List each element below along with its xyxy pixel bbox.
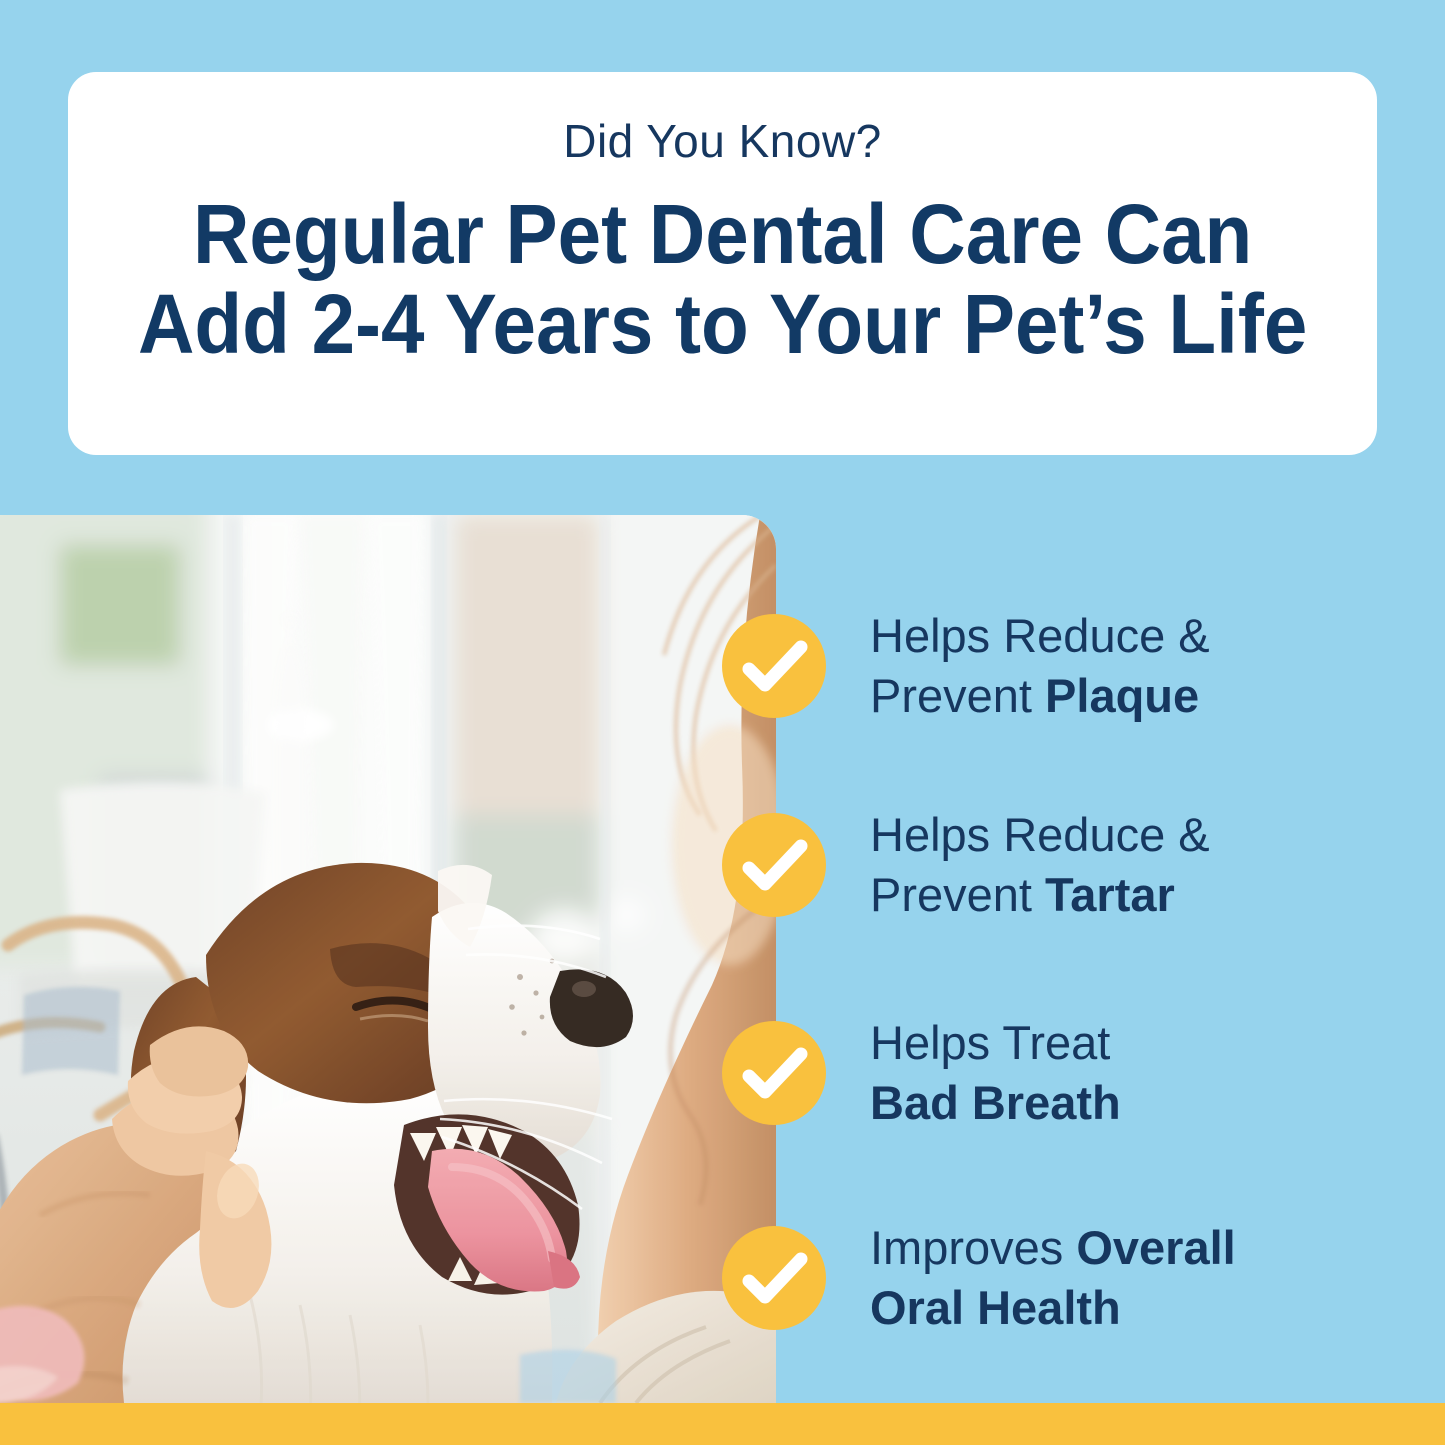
benefit-item-plaque: Helps Reduce & Prevent Plaque bbox=[722, 606, 1210, 726]
benefit-line-bold: Bad Breath bbox=[870, 1076, 1121, 1129]
headline-card: Did You Know? Regular Pet Dental Care Ca… bbox=[68, 72, 1377, 455]
check-circle-icon bbox=[722, 813, 826, 917]
benefits-list: Helps Reduce & Prevent Plaque Helps Redu… bbox=[722, 560, 1342, 1360]
bottom-accent-bar bbox=[0, 1403, 1445, 1445]
benefit-line-bold: Plaque bbox=[1045, 669, 1199, 722]
headline-line-1: Regular Pet Dental Care Can bbox=[138, 189, 1307, 280]
benefit-label: Improves Overall Oral Health bbox=[870, 1218, 1236, 1338]
check-circle-icon bbox=[722, 1021, 826, 1125]
benefit-line-normal: Prevent bbox=[870, 868, 1045, 921]
benefit-label: Helps Treat Bad Breath bbox=[870, 1013, 1121, 1133]
benefit-line-normal: Helps Reduce & bbox=[870, 808, 1210, 861]
benefit-line-bold: Tartar bbox=[1045, 868, 1175, 921]
benefit-label: Helps Reduce & Prevent Plaque bbox=[870, 606, 1210, 726]
benefit-item-oral-health: Improves Overall Oral Health bbox=[722, 1218, 1236, 1338]
benefit-line-normal: Prevent bbox=[870, 669, 1045, 722]
check-circle-icon bbox=[722, 614, 826, 718]
benefit-item-tartar: Helps Reduce & Prevent Tartar bbox=[722, 805, 1210, 925]
headline-line-2: Add 2-4 Years to Your Pet’s Life bbox=[138, 279, 1307, 370]
benefit-line-normal: Helps Reduce & bbox=[870, 609, 1210, 662]
page-title: Regular Pet Dental Care Can Add 2-4 Year… bbox=[138, 189, 1307, 370]
benefit-line-normal: Improves bbox=[870, 1221, 1076, 1274]
check-circle-icon bbox=[722, 1226, 826, 1330]
benefit-label: Helps Reduce & Prevent Tartar bbox=[870, 805, 1210, 925]
benefit-line-bold: Oral Health bbox=[870, 1281, 1121, 1334]
benefit-line-bold: Overall bbox=[1076, 1221, 1235, 1274]
benefit-item-bad-breath: Helps Treat Bad Breath bbox=[722, 1013, 1121, 1133]
eyebrow-text: Did You Know? bbox=[563, 116, 882, 167]
benefit-line-normal: Helps Treat bbox=[870, 1016, 1110, 1069]
dog-and-owner-photo bbox=[0, 515, 776, 1403]
